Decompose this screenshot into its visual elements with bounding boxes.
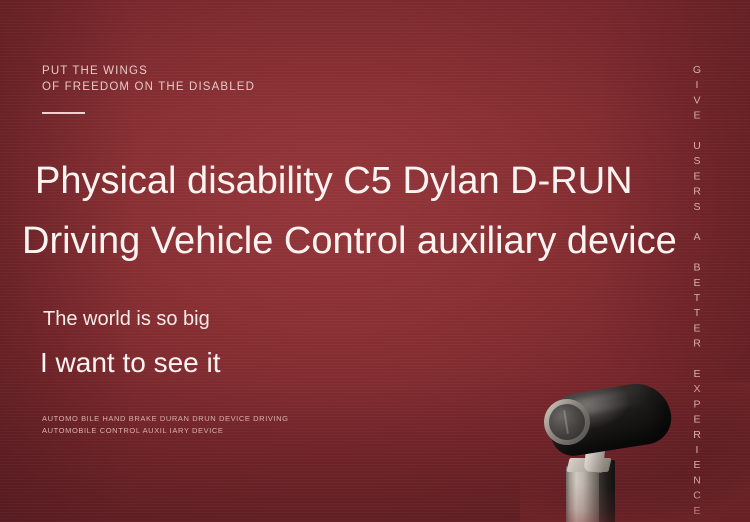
product-end-cap-ring <box>541 396 594 449</box>
headline-line-1: Physical disability C5 Dylan D-RUN <box>35 160 633 202</box>
eyebrow-line-2: OF FREEDOM ON THE DISABLED <box>42 79 255 95</box>
product-black-grip <box>545 379 675 459</box>
headline-line-2: Driving Vehicle Control auxiliary device <box>22 220 677 262</box>
eyebrow-tagline: PUT THE WINGS OF FREEDOM ON THE DISABLED <box>42 63 255 95</box>
vertical-side-text: GIVE USERS A BETTER EXPERIENCE <box>688 64 706 520</box>
product-image-hand-control <box>520 382 750 522</box>
product-end-cap-notch <box>563 410 569 434</box>
eyebrow-line-1: PUT THE WINGS <box>42 63 255 79</box>
product-metal-shaft <box>566 466 605 522</box>
subheading-line-2: I want to see it <box>40 346 221 380</box>
product-end-cap-face <box>546 401 587 442</box>
keyword-line-2: AUTOMOBILE CONTROL AUXIL IARY DEVICE <box>42 425 289 437</box>
product-chrome-lever <box>584 427 607 473</box>
subheading-line-1: The world is so big <box>43 306 210 332</box>
product-grip-highlight <box>571 386 651 418</box>
keyword-list: AUTOMO BILE HAND BRAKE DURAN DRUN DEVICE… <box>42 413 289 437</box>
product-edge-blend <box>520 382 750 522</box>
keyword-line-1: AUTOMO BILE HAND BRAKE DURAN DRUN DEVICE… <box>42 413 289 425</box>
divider-rule <box>42 112 85 114</box>
product-shaft-top-bevel <box>566 458 611 472</box>
promo-banner: PUT THE WINGS OF FREEDOM ON THE DISABLED… <box>0 0 750 522</box>
product-shaft-dark-edge <box>599 460 615 522</box>
